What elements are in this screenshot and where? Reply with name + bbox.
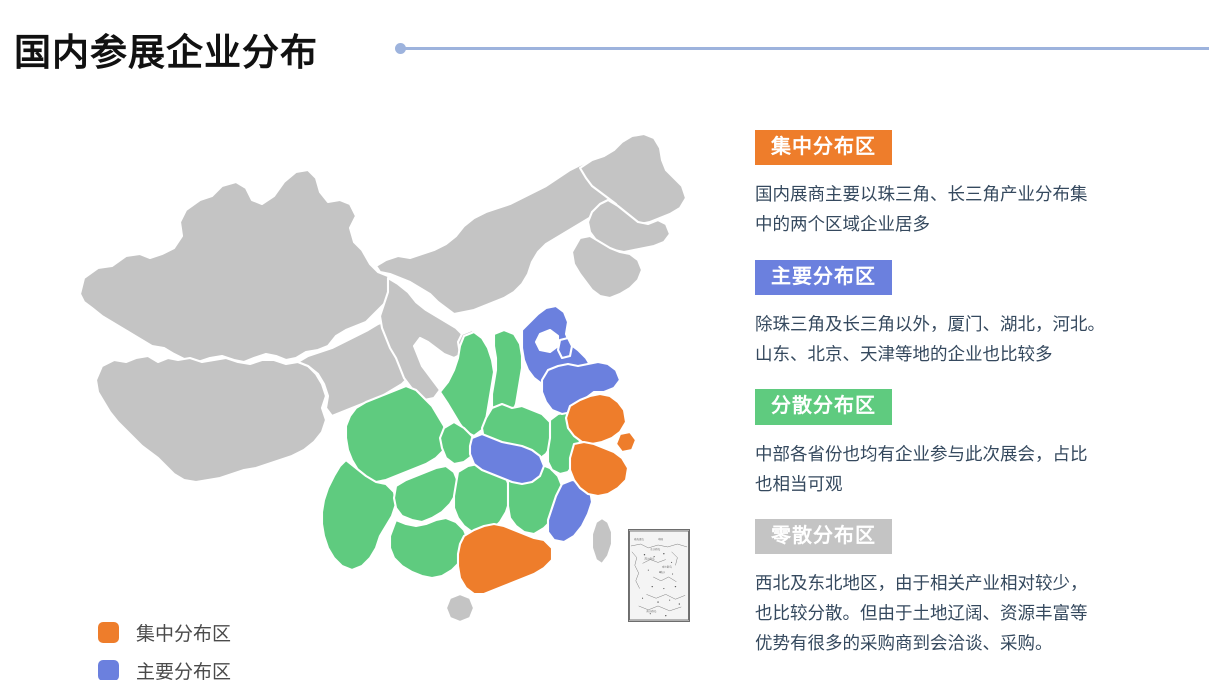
- region-taiwan: [592, 518, 612, 564]
- inset-map-graphic: 南海诸岛 中国 东沙群岛 西沙群岛 中沙群岛 南沙 南沙群岛: [629, 530, 689, 621]
- description-block-concentrated: 集中分布区 国内展商主要以珠三角、长三角产业分布集 中的两个区域企业居多: [755, 130, 1175, 240]
- region-shanghai: [616, 432, 636, 452]
- region-guizhou: [394, 466, 458, 522]
- svg-text:南沙群岛: 南沙群岛: [646, 609, 657, 613]
- legend-item: 集中分布区: [98, 613, 231, 651]
- legend-swatch-concentrated: [98, 622, 119, 643]
- region-guangxi: [390, 518, 468, 578]
- svg-text:南沙: 南沙: [660, 570, 666, 574]
- legend-item: 主要分布区: [98, 651, 231, 680]
- region-tibet: [96, 356, 326, 482]
- region-beijing: [536, 330, 558, 352]
- svg-text:中沙群岛: 中沙群岛: [662, 564, 673, 568]
- badge-scattered: 分散分布区: [755, 389, 892, 424]
- svg-text:东沙群岛: 东沙群岛: [650, 547, 661, 551]
- body-major: 除珠三角及长三角以外，厦门、湖北，河北。 山东、北京、天津等地的企业也比较多: [755, 309, 1175, 369]
- china-map: 南海诸岛 中国 东沙群岛 西沙群岛 中沙群岛 南沙 南沙群岛 集中分布区 主要分…: [40, 108, 730, 653]
- map-legend: 集中分布区 主要分布区 分散分布区 零散分布区: [98, 613, 231, 680]
- svg-text:西沙群岛: 西沙群岛: [644, 557, 655, 561]
- south-china-sea-inset: 南海诸岛 中国 东沙群岛 西沙群岛 中沙群岛 南沙 南沙群岛: [628, 529, 690, 622]
- page-title: 国内参展企业分布: [14, 22, 318, 76]
- svg-text:南海诸岛: 南海诸岛: [634, 537, 645, 541]
- region-hainan: [446, 594, 474, 622]
- body-scattered: 中部各省份也均有企业参与此次展会，占比 也相当可观: [755, 439, 1175, 499]
- description-block-scattered: 分散分布区 中部各省份也均有企业参与此次展会，占比 也相当可观: [755, 389, 1175, 499]
- legend-swatch-major: [98, 660, 119, 680]
- legend-label-concentrated: 集中分布区: [136, 619, 231, 646]
- china-map-svg: [40, 108, 730, 653]
- title-rule-line: [403, 47, 1209, 50]
- svg-text:中国: 中国: [658, 537, 664, 541]
- slide-root: 国内参展企业分布: [0, 0, 1209, 680]
- badge-major: 主要分布区: [755, 260, 892, 295]
- region-guangdong: [458, 524, 552, 594]
- description-panel: 集中分布区 国内展商主要以珠三角、长三角产业分布集 中的两个区域企业居多 主要分…: [755, 130, 1175, 678]
- slide-header: 国内参展企业分布: [0, 0, 1209, 96]
- description-block-major: 主要分布区 除珠三角及长三角以外，厦门、湖北，河北。 山东、北京、天津等地的企业…: [755, 260, 1175, 370]
- badge-concentrated: 集中分布区: [755, 130, 892, 165]
- region-tianjin: [558, 338, 572, 358]
- title-rule: [395, 46, 1209, 51]
- region-xinjiang: [80, 170, 394, 362]
- badge-sparse: 零散分布区: [755, 519, 892, 554]
- legend-label-major: 主要分布区: [136, 657, 231, 680]
- body-concentrated: 国内展商主要以珠三角、长三角产业分布集 中的两个区域企业居多: [755, 179, 1175, 239]
- body-sparse: 西北及东北地区，由于相关产业相对较少， 也比较分散。但由于土地辽阔、资源丰富等 …: [755, 568, 1175, 658]
- description-block-sparse: 零散分布区 西北及东北地区，由于相关产业相对较少， 也比较分散。但由于土地辽阔、…: [755, 519, 1175, 659]
